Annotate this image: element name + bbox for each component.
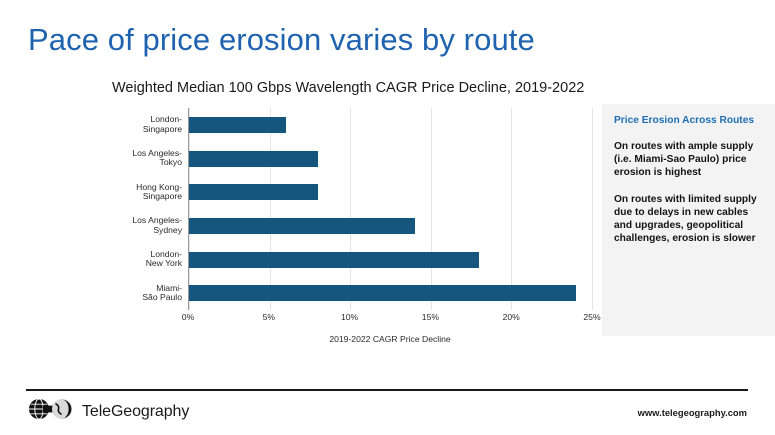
y-axis-tick-label: Los Angeles-Sydney: [108, 216, 182, 235]
x-axis-tick-label: 10%: [341, 312, 358, 322]
bar-chart: London-SingaporeLos Angeles-TokyoHong Ko…: [112, 108, 592, 356]
bar: [189, 117, 286, 133]
x-axis-ticks: 0%5%10%15%20%25%: [188, 312, 592, 328]
gridline: [511, 108, 512, 310]
x-axis-tick-label: 25%: [583, 312, 600, 322]
page-title: Pace of price erosion varies by route: [28, 22, 535, 58]
plot-wrapper: London-SingaporeLos Angeles-TokyoHong Ko…: [112, 108, 592, 318]
bar: [189, 218, 415, 234]
gridline: [270, 108, 271, 310]
bar: [189, 184, 318, 200]
y-axis-tick-label: London-Singapore: [108, 115, 182, 134]
gridline: [350, 108, 351, 310]
y-axis-tick-label: Hong Kong-Singapore: [108, 183, 182, 202]
y-axis-tick-label: Los Angeles-Tokyo: [108, 149, 182, 168]
gridline: [189, 108, 190, 310]
x-axis-tick-label: 15%: [422, 312, 439, 322]
site-url: www.telegeography.com: [638, 407, 747, 418]
y-axis-category-labels: London-SingaporeLos Angeles-TokyoHong Ko…: [112, 108, 186, 318]
bar: [189, 252, 479, 268]
telegeography-globe-logo-icon: [28, 398, 74, 425]
footer-divider: [26, 389, 748, 391]
x-axis-tick-label: 20%: [503, 312, 520, 322]
chart-title: Weighted Median 100 Gbps Wavelength CAGR…: [112, 80, 584, 96]
bar: [189, 285, 576, 301]
y-axis-tick-label: London-New York: [108, 250, 182, 269]
callout-paragraph-1: On routes with ample supply (i.e. Miami-…: [614, 140, 763, 180]
x-axis-title: 2019-2022 CAGR Price Decline: [188, 334, 592, 344]
x-axis-tick-label: 5%: [263, 312, 275, 322]
bar: [189, 151, 318, 167]
brand-name: TeleGeography: [82, 403, 189, 421]
slide-canvas: Pace of price erosion varies by route We…: [0, 0, 775, 435]
gridline: [592, 108, 593, 310]
gridline: [431, 108, 432, 310]
brand-lockup: TeleGeography: [28, 398, 189, 425]
callout-paragraph-2: On routes with limited supply due to del…: [614, 193, 763, 246]
plot-region: [188, 108, 592, 310]
y-axis-tick-label: Miami-São Paulo: [108, 284, 182, 303]
callout-panel: Price Erosion Across Routes On routes wi…: [602, 104, 775, 336]
x-axis-tick-label: 0%: [182, 312, 194, 322]
callout-heading: Price Erosion Across Routes: [614, 114, 763, 127]
